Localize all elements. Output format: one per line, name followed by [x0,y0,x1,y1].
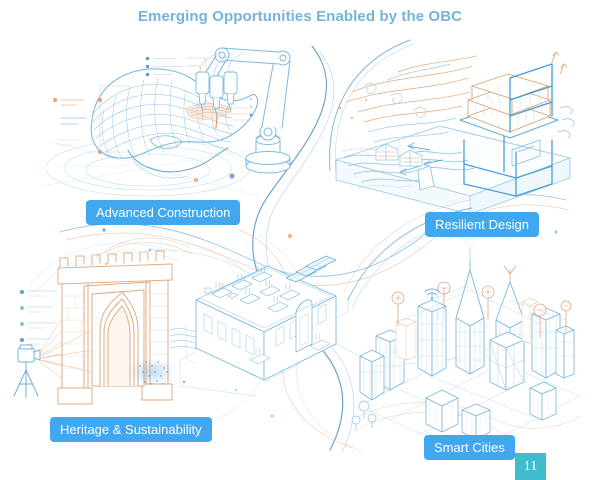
heritage-callout-annotations [20,290,58,344]
illustration-smart-cities [344,200,582,454]
illustration-resilient-design [330,40,574,214]
slide-canvas: Emerging Opportunities Enabled by the OB… [0,0,600,480]
slide-illustration [0,0,600,480]
label-advanced-construction[interactable]: Advanced Construction [86,200,240,225]
illustration-advanced-construction [42,48,290,196]
label-resilient-design[interactable]: Resilient Design [425,212,539,237]
label-smart-cities[interactable]: Smart Cities [424,435,515,460]
page-title: Emerging Opportunities Enabled by the OB… [0,8,600,25]
label-heritage-sustainability[interactable]: Heritage & Sustainability [50,417,212,442]
illustration-heritage-sustainability [14,238,348,404]
page-number: 11 [515,453,546,480]
